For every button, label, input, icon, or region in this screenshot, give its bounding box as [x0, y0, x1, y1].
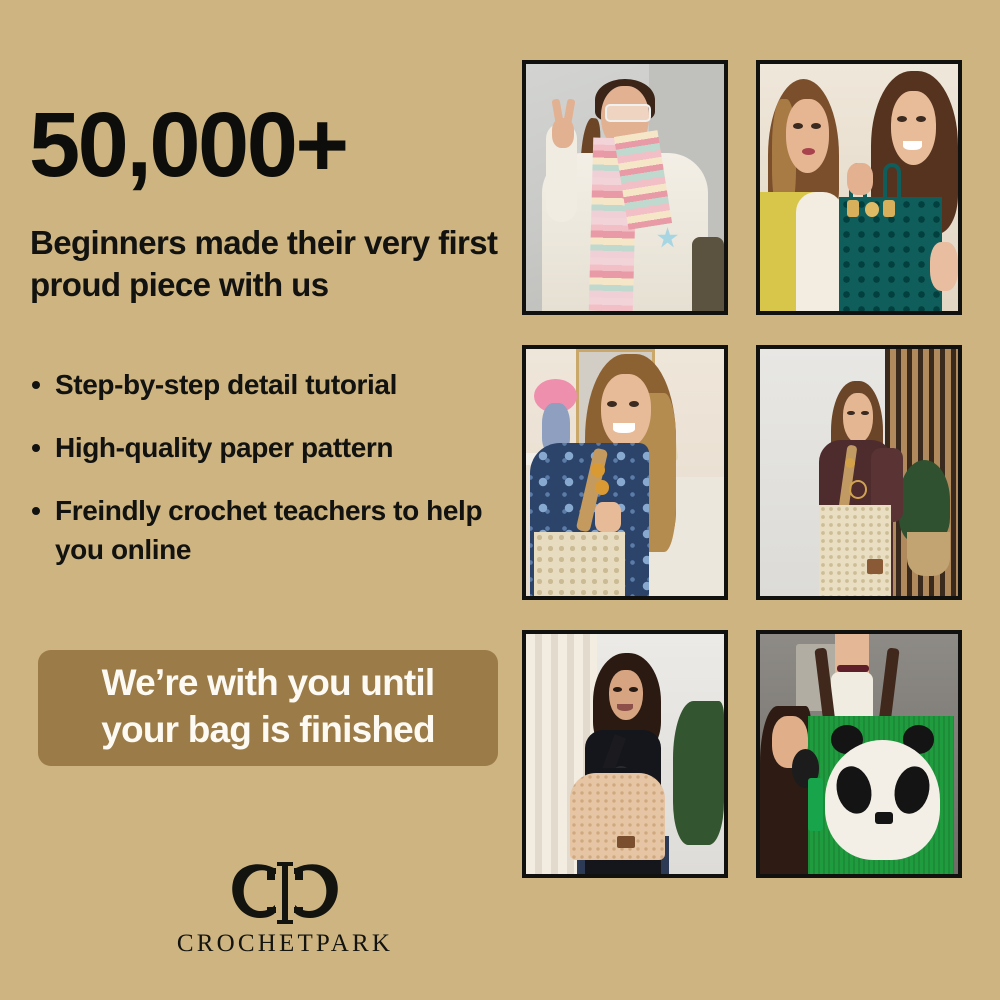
photo-cell: [522, 345, 728, 600]
promise-banner-line-2: your bag is finished: [60, 706, 476, 753]
headline-count: 50,000+: [29, 99, 347, 191]
subheadline: Beginners made their very first proud pi…: [30, 222, 510, 306]
bullet-dot-icon: [32, 381, 40, 389]
feature-text: High-quality paper pattern: [55, 432, 393, 463]
photo-cell: [522, 630, 728, 878]
photo-cell: [522, 60, 728, 315]
feature-list: Step-by-step detail tutorial High-qualit…: [30, 365, 500, 593]
photo-cell: [756, 630, 962, 878]
promo-poster: 50,000+ Beginners made their very first …: [0, 0, 1000, 1000]
feature-text: Freindly crochet teachers to help you on…: [55, 495, 482, 566]
woman-in-black-top-with-beige-bag-photo: [526, 634, 724, 874]
customer-photo-grid: [522, 60, 962, 878]
cd-monogram-icon: [227, 862, 343, 924]
woman-with-green-panda-tote-bag-photo: [760, 634, 958, 874]
list-item: High-quality paper pattern: [30, 428, 500, 468]
woman-in-blue-floral-top-with-cream-bag-photo: [526, 349, 724, 596]
copy-column: 50,000+ Beginners made their very first …: [0, 0, 500, 1000]
photo-cell: [756, 60, 962, 315]
two-women-with-teal-tote-bag-photo: [760, 64, 958, 311]
brand-logo: CROCHETPARK: [140, 862, 430, 958]
promise-banner: We’re with you until your bag is finishe…: [38, 650, 498, 766]
bullet-dot-icon: [32, 507, 40, 515]
list-item: Freindly crochet teachers to help you on…: [30, 491, 500, 571]
woman-in-burgundy-top-with-cream-bag-photo: [760, 349, 958, 596]
photo-cell: [756, 345, 962, 600]
list-item: Step-by-step detail tutorial: [30, 365, 500, 405]
woman-with-pastel-striped-scarf-photo: [526, 64, 724, 311]
brand-wordmark: CROCHETPARK: [140, 930, 430, 958]
promise-banner-line-1: We’re with you until: [60, 659, 476, 706]
bullet-dot-icon: [32, 444, 40, 452]
feature-text: Step-by-step detail tutorial: [55, 369, 397, 400]
